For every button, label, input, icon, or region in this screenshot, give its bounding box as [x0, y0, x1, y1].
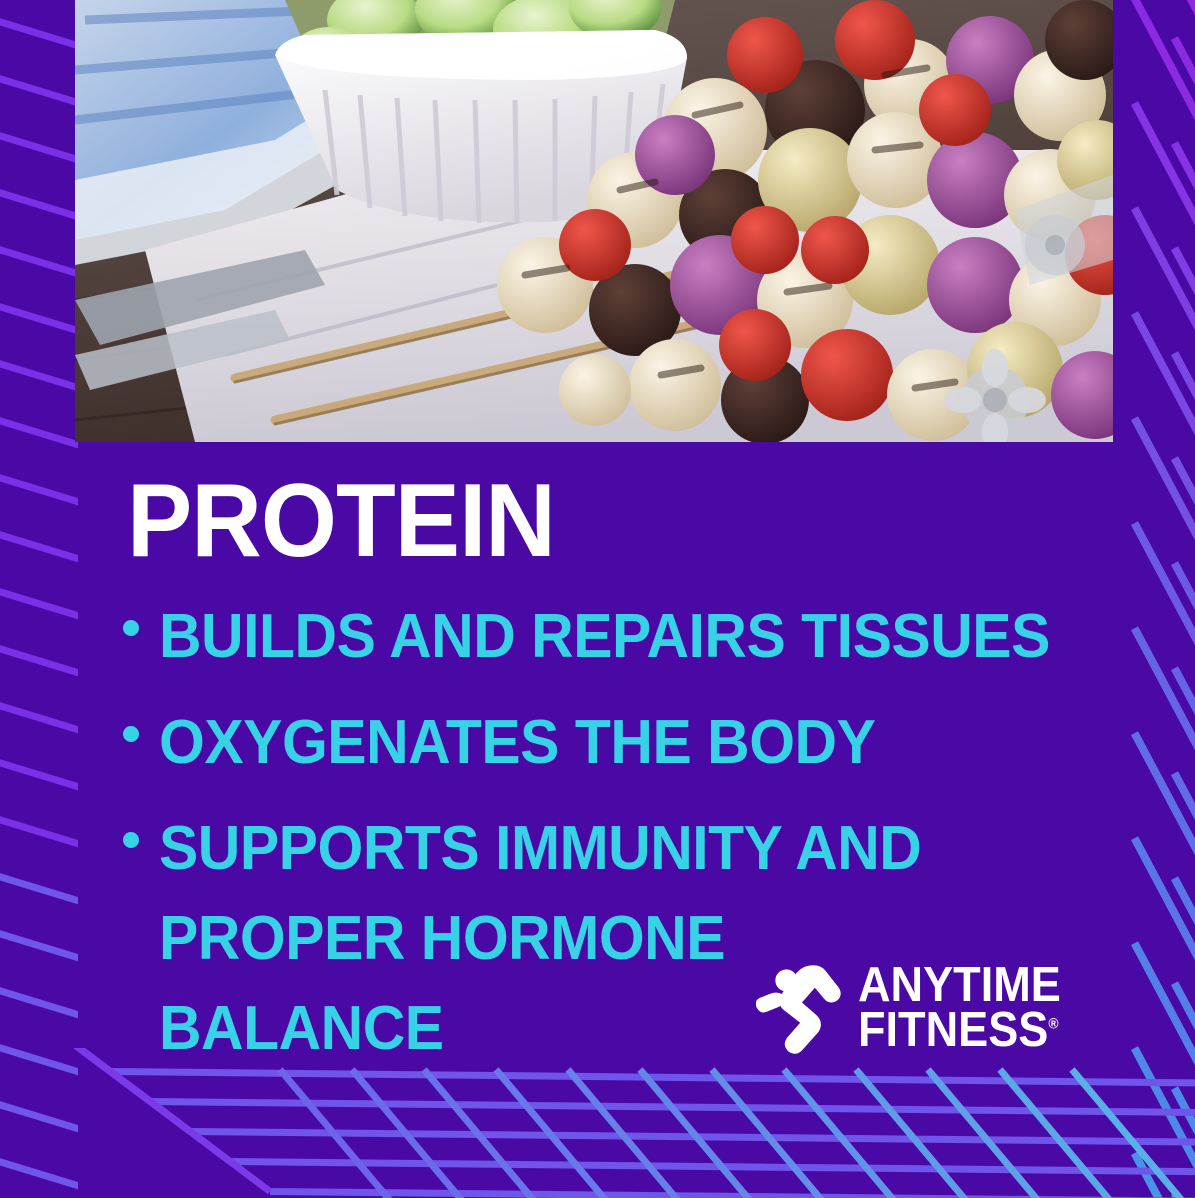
bullet-dot-icon — [123, 726, 139, 742]
border-stripe — [0, 171, 78, 222]
border-stripe — [0, 0, 78, 51]
border-stripe — [0, 627, 78, 678]
registered-trademark-icon: ® — [1048, 1016, 1058, 1033]
border-stripe — [0, 684, 78, 735]
bullet-dot-icon — [123, 620, 139, 636]
list-item: BUILDS AND REPAIRS TISSUES — [123, 592, 1113, 682]
border-band-line — [270, 1188, 1195, 1198]
border-stripe — [0, 57, 78, 108]
border-stripe — [0, 228, 78, 279]
running-man-icon — [756, 962, 848, 1054]
poster-canvas: PROTEIN BUILDS AND REPAIRS TISSUES OXYGE… — [0, 0, 1195, 1198]
border-stripe — [0, 741, 78, 792]
brand-line-anytime: ANYTIME — [858, 963, 1061, 1008]
right-border-pattern — [1113, 0, 1195, 1198]
border-band-kink — [124, 1080, 272, 1194]
brand-line-fitness: FITNESS® — [858, 1008, 1061, 1053]
food-photo — [75, 0, 1113, 442]
border-stripe — [0, 855, 78, 906]
border-stripe — [0, 969, 78, 1020]
border-stripe — [0, 456, 78, 507]
border-stripe — [0, 513, 78, 564]
anytime-fitness-logo: ANYTIME FITNESS® — [756, 962, 1079, 1054]
poster-content: PROTEIN BUILDS AND REPAIRS TISSUES OXYGE… — [75, 442, 1113, 1090]
brand-wordmark: ANYTIME FITNESS® — [858, 963, 1079, 1053]
border-stripe — [0, 114, 78, 165]
border-stripe — [0, 285, 78, 336]
left-border-pattern — [0, 0, 78, 1198]
border-stripe — [0, 912, 78, 963]
page-title: PROTEIN — [127, 468, 1054, 574]
list-item: OXYGENATES THE BODY — [123, 698, 1113, 788]
border-stripe — [0, 798, 78, 849]
list-item-label: OXYGENATES THE BODY — [159, 698, 875, 788]
border-stripe — [0, 342, 78, 393]
food-photo-illustration — [75, 0, 1113, 442]
list-item-label: BUILDS AND REPAIRS TISSUES — [159, 592, 1050, 682]
brand-fitness-text: FITNESS — [858, 1003, 1048, 1057]
border-stripe — [0, 399, 78, 450]
running-man-glyph — [756, 962, 848, 1054]
border-stripe — [0, 570, 78, 621]
bullet-dot-icon — [123, 832, 139, 848]
